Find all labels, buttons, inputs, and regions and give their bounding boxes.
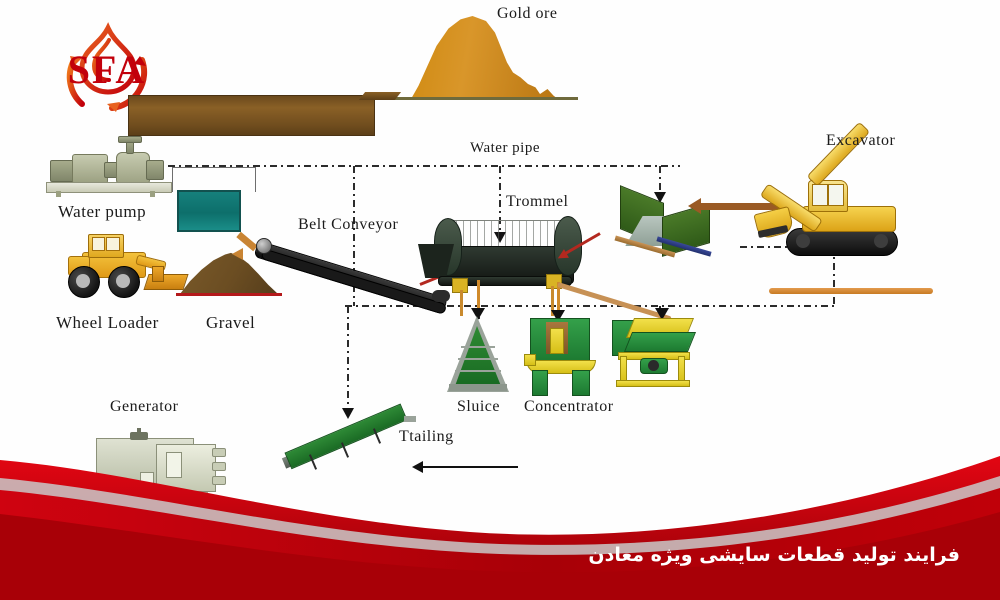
banner-caption: فرایند تولید قطعات سایشی ویژه معادن <box>588 544 960 566</box>
label-excavator: Excavator <box>826 132 895 150</box>
water-pump <box>46 148 176 200</box>
water-pipe-arrow-tailing <box>342 408 354 419</box>
excavator <box>756 156 902 262</box>
wheel-loader <box>52 232 184 294</box>
label-wheel-loader: Wheel Loader <box>56 313 159 333</box>
water-tank <box>177 190 241 232</box>
water-pipe-drop-tailing <box>347 306 349 410</box>
concentrator-table <box>612 314 694 386</box>
trommel-outlet-sluice <box>477 280 480 310</box>
arrowhead <box>688 198 701 214</box>
logo-wordmark: SFA <box>52 50 162 90</box>
sluice <box>447 316 509 392</box>
label-trommel: Trommel <box>506 193 568 211</box>
tank-riser-pipe <box>172 167 256 192</box>
generator <box>96 432 236 498</box>
label-sluice: Sluice <box>457 398 500 416</box>
tailing-return-arrow <box>422 466 518 468</box>
label-gold-ore: Gold ore <box>497 5 557 23</box>
ground-slope <box>359 92 401 100</box>
diagram-canvas: SFA Gold ore Water pipe Water pump <box>0 0 1000 600</box>
label-generator: Generator <box>110 398 178 416</box>
gold-ore-mound <box>408 16 558 99</box>
ore-ground-line <box>386 97 578 100</box>
label-concentrator: Concentrator <box>524 398 614 416</box>
arrowhead <box>412 461 423 473</box>
gravel-feed-arrowhead <box>232 248 243 260</box>
belt-conveyor-pulley <box>256 238 272 254</box>
label-belt-conveyor: Belt Conveyor <box>298 216 398 234</box>
excavator-ground-rail <box>769 288 933 294</box>
concentrator <box>524 318 598 394</box>
ground-cross-section <box>128 95 375 136</box>
label-gravel: Gravel <box>206 313 255 333</box>
label-tailing: Ttailing <box>399 428 454 446</box>
label-water-pipe: Water pipe <box>470 140 540 157</box>
label-water-pump: Water pump <box>58 202 146 222</box>
gravel-base-line <box>176 293 282 296</box>
